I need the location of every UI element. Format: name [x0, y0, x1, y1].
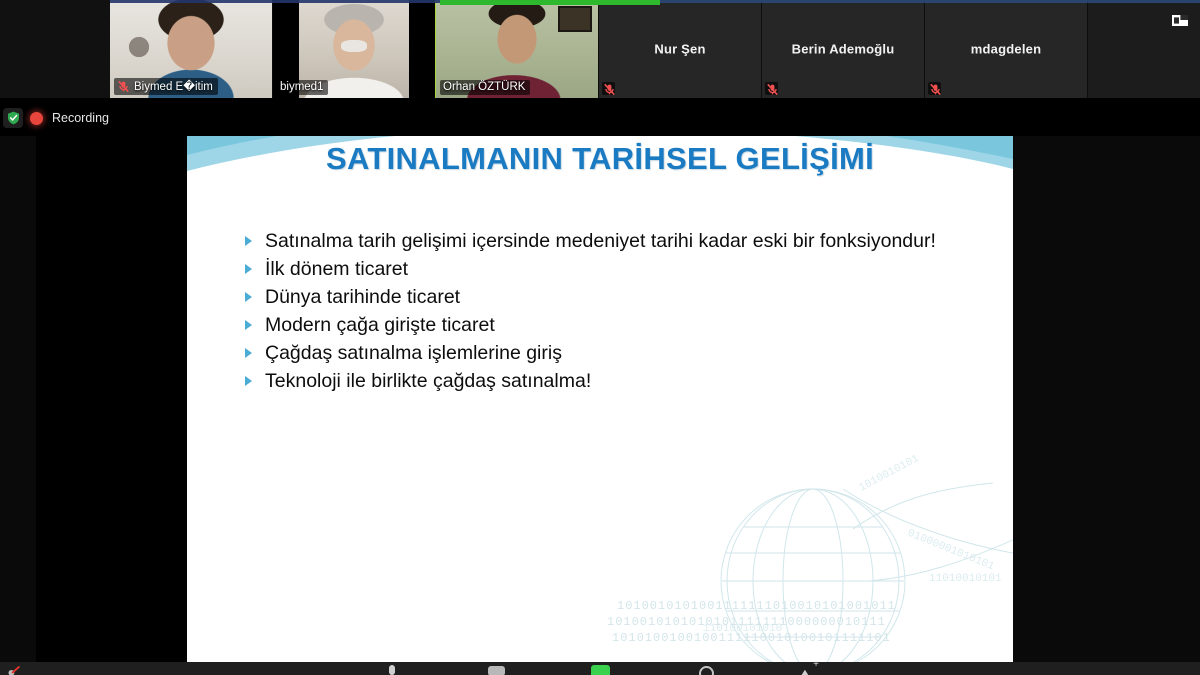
participant-name-text-5: mdagdelen: [925, 42, 1087, 57]
recording-label: Recording: [52, 111, 109, 125]
list-item: Çağdaş satınalma işlemlerine giriş: [245, 341, 965, 367]
leave-meeting-button[interactable]: [8, 663, 20, 673]
window-top-accent-right: [660, 0, 1200, 3]
participant-tile-5[interactable]: mdagdelen: [925, 0, 1088, 98]
recording-bar: [0, 98, 1200, 136]
bullet-arrow-icon: [245, 257, 255, 279]
binary-line-0: 1010010101001111111010010101001011: [617, 599, 896, 613]
list-item: Modern çağa girişte ticaret: [245, 313, 965, 339]
active-speaker-indicator: [440, 0, 660, 5]
svg-text:1010010101: 1010010101: [857, 453, 921, 495]
participant-name-badge-1: biymed1: [277, 80, 328, 95]
list-item: İlk dönem ticaret: [245, 257, 965, 283]
bullet-text: Dünya tarihinde ticaret: [265, 285, 460, 311]
binary-line-2: 1010100100100111110010100101111101: [612, 631, 891, 645]
bullet-text: Modern çağa girişte ticaret: [265, 313, 495, 339]
participant-name-text-4: Berin Ademoğlu: [762, 42, 924, 57]
bullet-arrow-icon: [245, 285, 255, 307]
window-view-icon[interactable]: [1172, 14, 1188, 27]
participant-tile-4[interactable]: Berin Ademoğlu: [762, 0, 925, 98]
filmstrip-left-padding: [0, 0, 110, 98]
svg-text:11010010101: 11010010101: [929, 573, 1002, 585]
share-screen-button[interactable]: [587, 662, 613, 675]
meeting-window: Biymed E�itim biymed1 Orhan ÖZTÜRK Nur Ş…: [0, 0, 1200, 675]
bullet-arrow-icon: [245, 313, 255, 335]
bullet-text: Çağdaş satınalma işlemlerine giriş: [265, 341, 562, 367]
mute-icon: [765, 82, 778, 95]
globe-binary-graphic: 1010010101 01000001010101 11010010101 11…: [693, 431, 1013, 665]
participant-name-text-3: Nur Şen: [599, 42, 761, 57]
mute-icon: [602, 82, 615, 95]
video-button[interactable]: [483, 662, 509, 675]
presentation-slide: SATINALMANIN TARİHSEL GELİŞİMİ: [187, 99, 1013, 665]
participant-tile-3[interactable]: Nur Şen: [599, 0, 762, 98]
encryption-shield-icon[interactable]: [3, 108, 23, 128]
participant-name-text-1: biymed1: [280, 81, 323, 93]
bullet-text: Satınalma tarih gelişimi içersinde meden…: [265, 229, 936, 255]
reactions-button[interactable]: [795, 662, 821, 675]
bullet-arrow-icon: [245, 229, 255, 251]
participant-tile-1[interactable]: biymed1: [273, 0, 436, 98]
slide-title: SATINALMANIN TARİHSEL GELİŞİMİ: [187, 141, 1013, 177]
participant-name-text-2: Orhan ÖZTÜRK: [443, 81, 525, 93]
mute-icon: [928, 82, 941, 95]
list-item: Dünya tarihinde ticaret: [245, 285, 965, 311]
list-item: Teknoloji ile birlikte çağdaş satınalma!: [245, 369, 965, 395]
participant-name-badge-0: Biymed E�itim: [114, 78, 218, 95]
binary-line-1: 1010010101010101111111000000010111: [607, 615, 886, 629]
list-item: Satınalma tarih gelişimi içersinde meden…: [245, 229, 965, 255]
screen-share-stage: SATINALMANIN TARİHSEL GELİŞİMİ: [36, 99, 1013, 665]
bullet-text: Teknoloji ile birlikte çağdaş satınalma!: [265, 369, 591, 395]
recording-indicator-dot: [30, 112, 43, 125]
mute-button[interactable]: [379, 662, 405, 675]
participant-tile-0[interactable]: Biymed E�itim: [110, 0, 273, 98]
participant-name-text-0: Biymed E�itim: [134, 79, 213, 93]
svg-text:01000001010101: 01000001010101: [906, 528, 997, 574]
slide-bullet-list: Satınalma tarih gelişimi içersinde meden…: [245, 229, 965, 397]
bullet-arrow-icon: [245, 369, 255, 391]
participant-filmstrip: Biymed E�itim biymed1 Orhan ÖZTÜRK Nur Ş…: [0, 0, 1200, 98]
mute-icon: [117, 80, 130, 93]
bullet-arrow-icon: [245, 341, 255, 363]
window-top-accent-left: [110, 0, 440, 3]
participants-button[interactable]: [691, 662, 717, 675]
bullet-text: İlk dönem ticaret: [265, 257, 408, 283]
participant-tile-2[interactable]: Orhan ÖZTÜRK: [436, 0, 599, 98]
participant-name-badge-2: Orhan ÖZTÜRK: [440, 80, 530, 95]
meeting-toolbar: [0, 662, 1200, 675]
